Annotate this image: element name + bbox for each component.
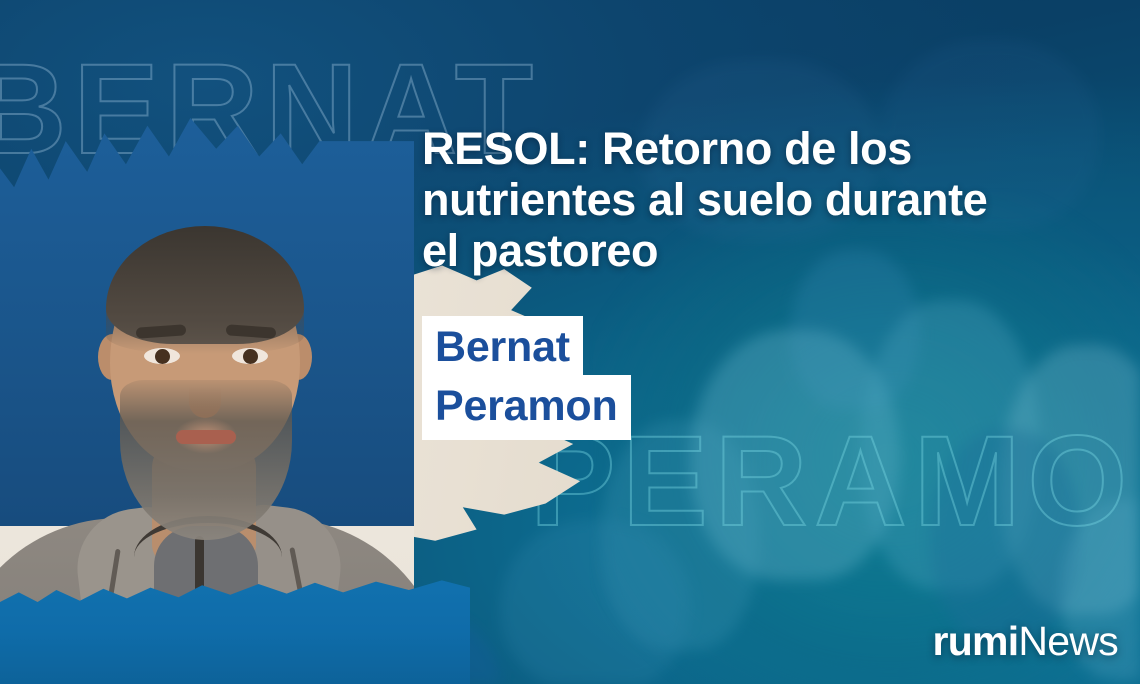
headline-kicker: RESOL: [422, 123, 590, 174]
portrait-nose [189, 366, 221, 418]
speaker-last-name: Peramon [422, 375, 631, 440]
portrait-lips [176, 430, 236, 444]
logo-rumi-text: rumi [933, 618, 1019, 664]
portrait-eye-right [232, 348, 268, 364]
portrait-eye-left [144, 348, 180, 364]
torn-paper-panel [0, 258, 656, 630]
speaker-first-name: Bernat [422, 316, 583, 381]
video-thumbnail: BERNAT PERAMON [0, 0, 1140, 684]
ruminews-logo[interactable]: rumiNews [933, 621, 1118, 662]
headline: RESOL: Retorno de los nutrientes al suel… [422, 124, 1012, 277]
logo-news-text: News [1018, 618, 1118, 664]
